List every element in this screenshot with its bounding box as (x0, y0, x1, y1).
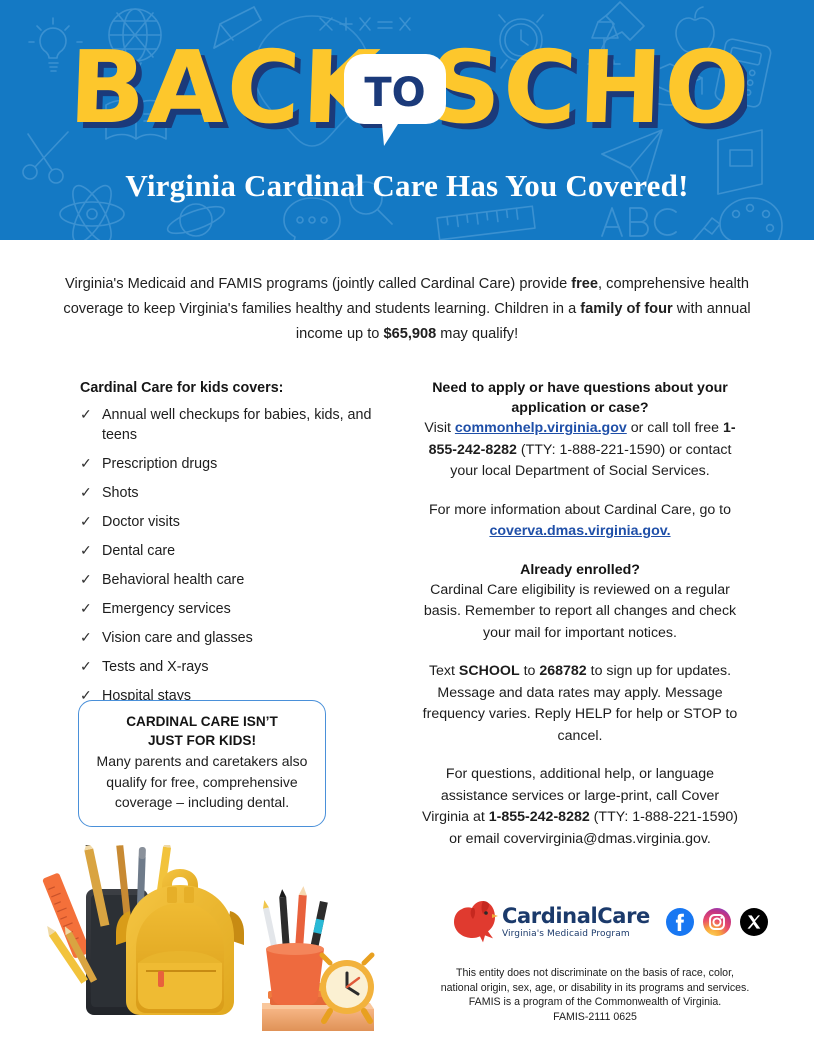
check-icon: ✓ (80, 453, 92, 473)
cardinal-care-logo: CardinalCare Virginia's Medicaid Program (452, 899, 650, 945)
banner-subtitle: Virginia Cardinal Care Has You Covered! (0, 168, 814, 204)
list-item-label: Dental care (102, 543, 175, 559)
back-to-school-title: BACK SCHOOL BACK SCHOOL TO (67, 36, 747, 148)
assistance-phone: 1-855-242-8282 (489, 809, 590, 825)
logo-name: CardinalCare (502, 906, 650, 927)
info-column: Need to apply or have questions about yo… (420, 378, 740, 850)
cardinal-bird-icon (452, 899, 500, 945)
text-shortcode: 268782 (539, 663, 586, 679)
intro-text-3e: may qualify! (436, 326, 518, 342)
logo-text-block: CardinalCare Virginia's Medicaid Program (502, 906, 650, 939)
header-banner: BACK SCHOOL BACK SCHOOL TO Virginia Car (0, 0, 814, 240)
list-item: ✓Behavioral health care (80, 570, 380, 590)
callout-body: Many parents and caretakers also qualify… (91, 751, 313, 813)
check-icon: ✓ (80, 511, 92, 531)
apply-text-b: or call toll free (627, 420, 723, 436)
check-icon: ✓ (80, 598, 92, 618)
check-icon: ✓ (80, 656, 92, 676)
list-item-label: Doctor visits (102, 514, 180, 530)
text-signup-b: to (520, 663, 540, 679)
instagram-icon[interactable] (703, 908, 731, 936)
list-item: ✓Annual well checkups for babies, kids, … (80, 405, 380, 445)
covers-column: Cardinal Care for kids covers: ✓Annual w… (80, 380, 380, 735)
callout-heading-line2: JUST FOR KIDS! (91, 731, 313, 750)
list-item: ✓Vision care and glasses (80, 628, 380, 648)
poster-page: BACK SCHOOL BACK SCHOOL TO Virginia Car (0, 0, 814, 1041)
apply-text-a: Visit (424, 420, 455, 436)
coverva-link[interactable]: coverva.dmas.virginia.gov. (489, 523, 670, 539)
commonhelp-link[interactable]: commonhelp.virginia.gov (455, 420, 627, 436)
check-icon: ✓ (80, 482, 92, 502)
check-icon: ✓ (80, 404, 92, 424)
check-icon: ✓ (80, 569, 92, 589)
intro-income-amount: $65,908 (383, 326, 436, 342)
text-signup-body: Text SCHOOL to 268782 to sign up for upd… (420, 661, 740, 747)
apply-body: Visit commonhelp.virginia.gov or call to… (420, 418, 740, 483)
list-item-label: Emergency services (102, 601, 231, 617)
intro-free: free (571, 276, 598, 292)
intro-text-1: Virginia's Medicaid and FAMIS programs (… (65, 276, 571, 292)
text-keyword: SCHOOL (459, 663, 520, 679)
intro-family-of-four: family of four (580, 301, 672, 317)
intro-text-3a: Children in a (494, 301, 580, 317)
check-icon: ✓ (80, 627, 92, 647)
list-item: ✓Shots (80, 483, 380, 503)
list-item-label: Vision care and glasses (102, 630, 253, 646)
list-item-label: Shots (102, 485, 139, 501)
logo-tagline: Virginia's Medicaid Program (502, 929, 650, 939)
covers-heading: Cardinal Care for kids covers: (80, 380, 380, 396)
banner-title-group: BACK SCHOOL BACK SCHOOL TO (0, 36, 814, 146)
social-links (666, 908, 768, 936)
already-enrolled-heading: Already enrolled? (420, 560, 740, 580)
list-item: ✓Emergency services (80, 599, 380, 619)
footer-line-1: This entity does not discriminate on the… (415, 966, 775, 981)
logo-and-socials: CardinalCare Virginia's Medicaid Program (452, 893, 718, 951)
more-info-body: For more information about Cardinal Care… (420, 500, 740, 543)
footer-form-code: FAMIS-2111 0625 (415, 1010, 775, 1025)
already-enrolled-body: Cardinal Care eligibility is reviewed on… (420, 580, 740, 645)
intro-paragraph: Virginia's Medicaid and FAMIS programs (… (57, 272, 757, 347)
callout-heading-line1: CARDINAL CARE ISN’T (91, 712, 313, 731)
facebook-icon[interactable] (666, 908, 694, 936)
covers-list: ✓Annual well checkups for babies, kids, … (80, 405, 380, 726)
x-twitter-icon[interactable] (740, 908, 768, 936)
title-school: SCHOOL (427, 36, 747, 146)
intro-text-1c: , (598, 276, 602, 292)
footer-line-3: FAMIS is a program of the Commonwealth o… (415, 995, 775, 1010)
title-back: BACK (67, 36, 385, 146)
list-item-label: Prescription drugs (102, 456, 217, 472)
footer-disclaimer: This entity does not discriminate on the… (415, 966, 775, 1024)
apply-heading: Need to apply or have questions about yo… (420, 378, 740, 418)
more-info-text: For more information about Cardinal Care… (429, 502, 731, 518)
list-item-label: Tests and X-rays (102, 659, 208, 675)
backpack-school-supplies-illustration (34, 845, 384, 1035)
list-item-label: Annual well checkups for babies, kids, a… (102, 407, 371, 443)
list-item-label: Behavioral health care (102, 572, 244, 588)
check-icon: ✓ (80, 540, 92, 560)
text-signup-a: Text (429, 663, 459, 679)
list-item: ✓Doctor visits (80, 512, 380, 532)
title-to: TO (364, 70, 425, 116)
footer-line-2: national origin, sex, age, or disability… (415, 981, 775, 996)
assistance-body: For questions, additional help, or langu… (420, 764, 740, 850)
list-item: ✓Prescription drugs (80, 454, 380, 474)
list-item: ✓Tests and X-rays (80, 657, 380, 677)
list-item: ✓Dental care (80, 541, 380, 561)
not-just-for-kids-callout: CARDINAL CARE ISN’T JUST FOR KIDS! Many … (78, 700, 326, 827)
